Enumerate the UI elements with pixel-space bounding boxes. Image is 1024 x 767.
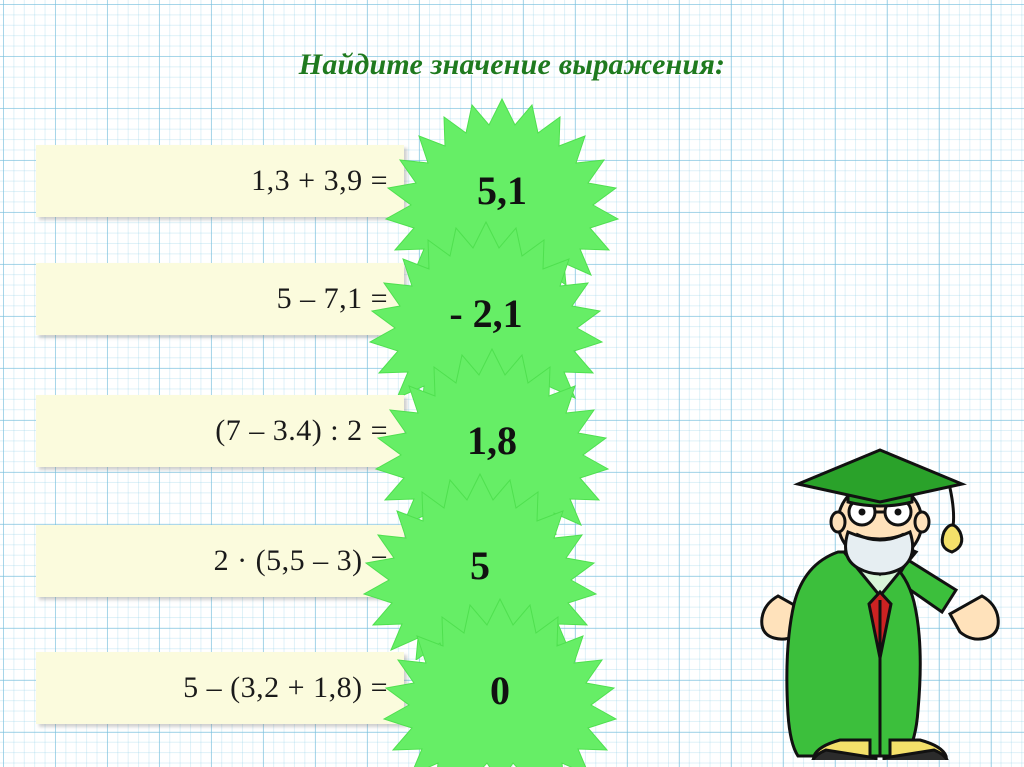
professor-graduate-character xyxy=(744,440,1016,760)
task-row: 5 – (3,2 + 1,8) = xyxy=(36,652,404,724)
page-title: Найдите значение выражения: xyxy=(0,48,1024,82)
task-row: 1,3 + 3,9 = xyxy=(36,145,404,217)
slide-canvas: Найдите значение выражения: 1,3 + 3,9 = … xyxy=(0,0,1024,767)
answer-text: 0 xyxy=(350,595,650,767)
professor-illustration-icon xyxy=(744,440,1016,760)
answer-star[interactable]: 0 xyxy=(350,595,650,767)
